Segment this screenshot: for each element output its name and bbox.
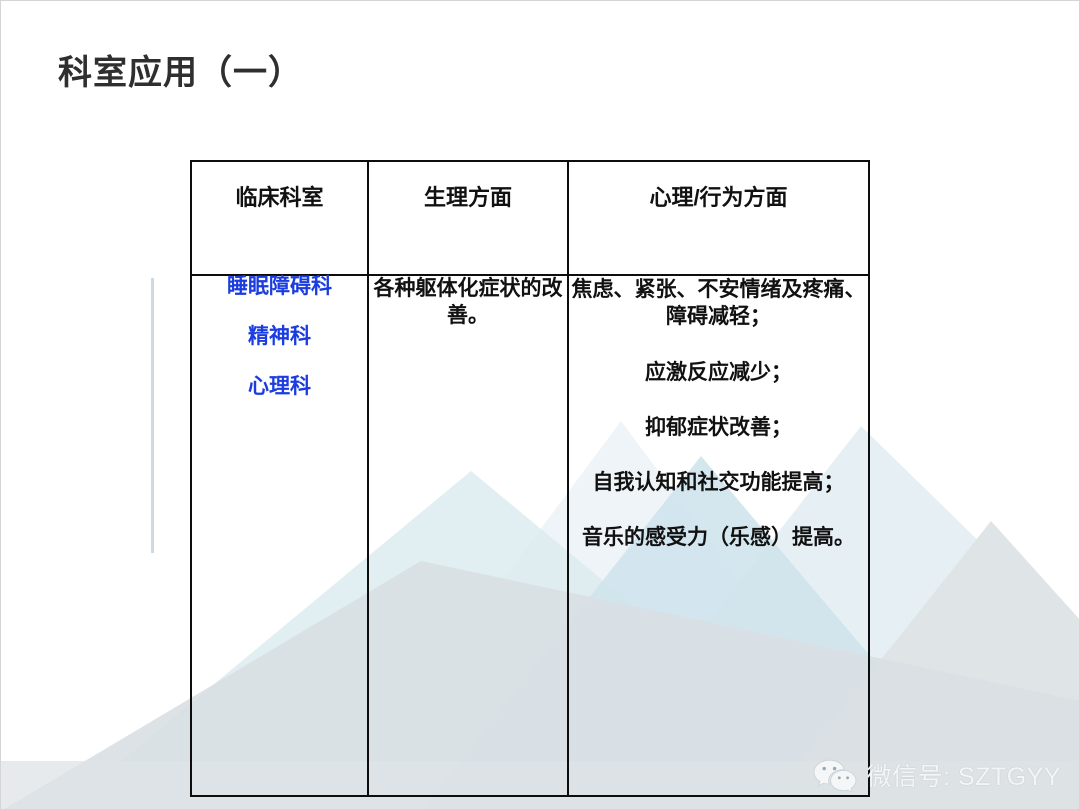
physiological-effect-text: 各种躯体化症状的改善。 (369, 276, 567, 330)
slide-canvas: 科室应用（一） 临床科室 生理方面 心理/行为方面 (0, 0, 1080, 810)
table-row: 睡眠障碍科 精神科 心理科 各种躯体化症状的改善。 焦虑、紧张、不安情绪及疼痛、… (191, 275, 869, 796)
accent-vertical-rule (151, 278, 154, 553)
header-label-clinical-department: 临床科室 (192, 162, 367, 212)
watermark: 微信号: SZTGYY (812, 757, 1061, 793)
department-item-psychiatry: 精神科 (192, 326, 367, 348)
watermark-label: 微信号: SZTGYY (867, 757, 1061, 793)
psychological-effect-item-3: 抑郁症状改善； (569, 414, 868, 441)
wechat-icon (812, 758, 858, 792)
cell-physiological-effects: 各种躯体化症状的改善。 (368, 275, 568, 796)
page-title: 科室应用（一） (58, 45, 303, 94)
psychological-effect-item-5: 音乐的感受力（乐感）提高。 (569, 524, 868, 551)
header-label-physiological: 生理方面 (369, 162, 567, 212)
table-header-physiological: 生理方面 (368, 161, 568, 275)
table-header-psychological: 心理/行为方面 (568, 161, 869, 275)
psychological-effect-item-4: 自我认知和社交功能提高； (569, 469, 868, 496)
cell-clinical-departments: 睡眠障碍科 精神科 心理科 (191, 275, 368, 796)
department-item-sleep-disorder: 睡眠障碍科 (192, 276, 367, 298)
table-header-clinical-department: 临床科室 (191, 161, 368, 275)
department-item-psychology: 心理科 (192, 376, 367, 398)
header-label-psychological: 心理/行为方面 (569, 162, 868, 212)
table-header-row: 临床科室 生理方面 心理/行为方面 (191, 161, 869, 275)
psychological-effect-item-1: 焦虑、紧张、不安情绪及疼痛、障碍减轻； (569, 276, 868, 331)
psychological-effect-item-2: 应激反应减少； (569, 359, 868, 386)
department-application-table: 临床科室 生理方面 心理/行为方面 睡眠障碍科 精神科 心理科 各种躯体化症状的… (190, 160, 870, 797)
cell-psychological-effects: 焦虑、紧张、不安情绪及疼痛、障碍减轻； 应激反应减少； 抑郁症状改善； 自我认知… (568, 275, 869, 796)
